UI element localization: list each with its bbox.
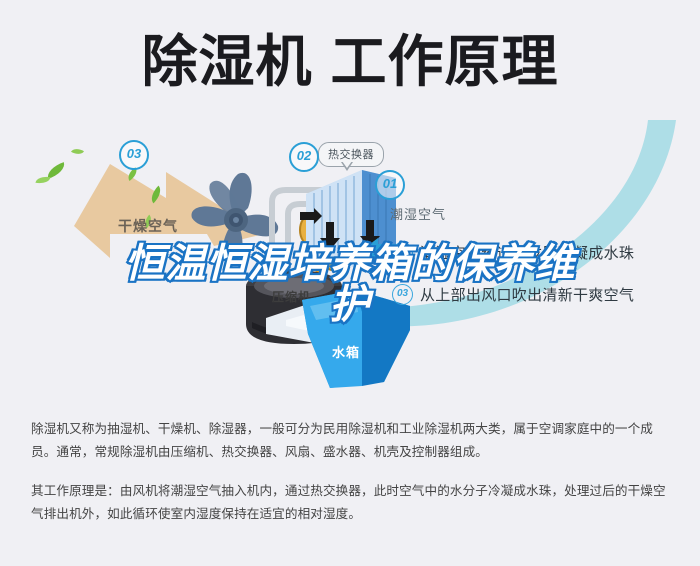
legend-badge-03: 03	[392, 284, 413, 305]
body-copy: 除湿机又称为抽湿机、干燥机、除湿器，一般可分为民用除湿机和工业除湿机两大类，属于…	[31, 418, 671, 526]
leaf-icon	[35, 175, 50, 185]
title-part-dehumidifier: 除湿机	[142, 30, 313, 94]
legend-badge-02: 02	[392, 242, 413, 263]
legend-item: 03 从上部出风口吹出清新干爽空气	[392, 284, 692, 305]
callout-tail-icon	[341, 162, 353, 171]
dry-air-label: 干燥空气	[118, 216, 178, 236]
paragraph-principle: 其工作原理是：由风机将潮湿空气抽入机内，通过热交换器，此时空气中的水分子冷凝成水…	[31, 480, 671, 526]
paragraph-definition: 除湿机又称为抽湿机、干燥机、除湿器，一般可分为民用除湿机和工业除湿机两大类，属于…	[31, 418, 671, 464]
title-part-working-principle: 工作原理	[331, 30, 559, 94]
legend-text-02: 潮湿空气经过蒸发器冷凝成水珠	[420, 242, 634, 263]
diagram-badge-03: 03	[119, 140, 149, 170]
page-root: 除湿机工作原理	[0, 0, 700, 566]
legend-text-03: 从上部出风口吹出清新干爽空气	[420, 284, 634, 305]
humid-air-label: 潮湿空气	[390, 204, 446, 223]
water-tank-label: 水箱	[332, 342, 360, 361]
diagram-badge-02: 02	[289, 142, 319, 172]
legend-list: 02 潮湿空气经过蒸发器冷凝成水珠 03 从上部出风口吹出清新干爽空气	[392, 242, 692, 326]
diagram-badge-01: 01	[375, 170, 405, 200]
page-title: 除湿机工作原理	[0, 30, 700, 94]
legend-item: 02 潮湿空气经过蒸发器冷凝成水珠	[392, 242, 692, 263]
